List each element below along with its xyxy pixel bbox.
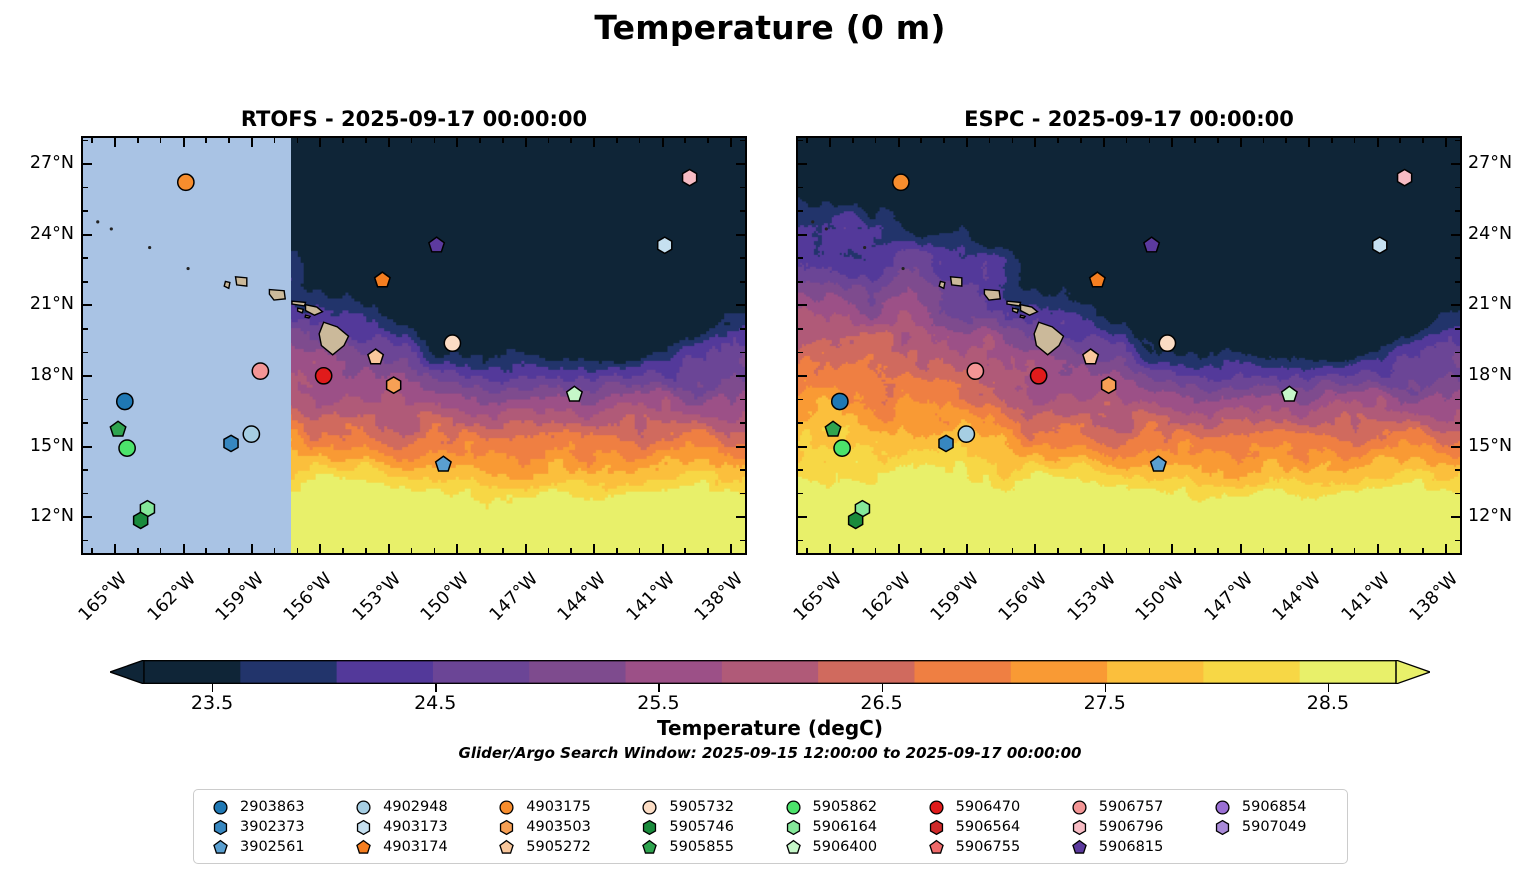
legend-label: 5905855: [669, 839, 734, 855]
legend-marker-hexagon: [1214, 819, 1231, 836]
x-tick-label: 138°W: [1384, 569, 1462, 647]
x-tick: [1103, 136, 1105, 147]
x-tick: [966, 544, 968, 555]
y-tick: [796, 281, 803, 283]
platform-marker-4902948[interactable]: [243, 426, 259, 442]
colorbar-tick-label: 24.5: [375, 692, 495, 714]
platform-marker-5905732[interactable]: [1159, 335, 1175, 351]
y-tick: [796, 328, 803, 330]
platform-marker-5905862[interactable]: [834, 440, 850, 456]
x-tick: [616, 136, 618, 143]
x-tick: [205, 136, 207, 143]
x-tick: [1331, 548, 1333, 555]
x-tick: [1171, 544, 1173, 555]
y-tick-label: 18°N: [1468, 365, 1540, 385]
colorbar-band-10: [1107, 660, 1204, 684]
y-tick-label: 18°N: [0, 365, 74, 385]
x-tick-label: 150°W: [1111, 569, 1189, 647]
platform-marker-2903863[interactable]: [832, 393, 848, 409]
y-tick: [81, 257, 88, 259]
x-tick-label: 159°W: [905, 569, 983, 647]
x-tick: [639, 136, 641, 143]
x-tick: [297, 548, 299, 555]
platform-marker-5906470[interactable]: [316, 368, 332, 384]
x-tick: [570, 548, 572, 555]
x-tick: [1399, 548, 1401, 555]
x-tick: [1399, 136, 1401, 143]
x-tick: [91, 136, 93, 143]
platform-marker-5905272[interactable]: [368, 349, 383, 364]
x-tick: [662, 544, 664, 555]
y-tick: [796, 399, 803, 401]
legend-label: 4902948: [383, 799, 448, 815]
y-tick: [81, 304, 92, 306]
legend-item-5906815[interactable]: 5906815: [1057, 837, 1200, 857]
x-tick: [875, 136, 877, 143]
legend-marker-pentagon: [212, 839, 229, 856]
platform-marker-5905746[interactable]: [134, 512, 148, 528]
legend-item-5905746[interactable]: 5905746: [627, 817, 770, 837]
x-tick: [1012, 136, 1014, 143]
platform-marker-5905746[interactable]: [849, 512, 863, 528]
x-tick: [160, 136, 162, 143]
colorbar-band-6: [722, 660, 819, 684]
legend-item-4903503[interactable]: 4903503: [484, 817, 627, 837]
platform-marker-5906470[interactable]: [1031, 368, 1047, 384]
legend-item-5906470[interactable]: 5906470: [914, 797, 1057, 817]
platform-marker-4903175[interactable]: [178, 174, 194, 190]
colorbar-band-3: [433, 660, 530, 684]
legend-marker-pentagon: [785, 839, 802, 856]
platform-marker-4903174[interactable]: [375, 272, 390, 287]
y-tick: [740, 469, 747, 471]
platform-marker-2903863[interactable]: [117, 393, 133, 409]
x-tick: [1194, 136, 1196, 143]
colorbar-band-5: [626, 660, 723, 684]
x-tick: [920, 136, 922, 143]
legend-marker-circle: [355, 799, 372, 816]
y-tick: [1455, 422, 1462, 424]
y-tick: [81, 469, 88, 471]
legend-label: 5907049: [1242, 819, 1307, 835]
legend-item-5907049[interactable]: 5907049: [1200, 817, 1343, 837]
platform-marker-3902373[interactable]: [224, 435, 238, 451]
x-tick: [1263, 136, 1265, 143]
x-tick: [662, 136, 664, 147]
x-tick: [707, 136, 709, 143]
x-tick-label: 153°W: [1042, 569, 1120, 647]
y-tick: [1455, 352, 1462, 354]
colorbar-band-11: [1203, 660, 1300, 684]
legend-label: 5906564: [956, 819, 1021, 835]
legend-item-5906796[interactable]: 5906796: [1057, 817, 1200, 837]
y-tick: [81, 352, 88, 354]
y-tick: [740, 281, 747, 283]
y-tick: [796, 516, 807, 518]
platform-marker-3902561[interactable]: [436, 456, 451, 471]
y-tick: [736, 163, 747, 165]
y-tick-label: 15°N: [0, 436, 74, 456]
platform-marker-4903173[interactable]: [1373, 237, 1387, 253]
x-tick: [593, 544, 595, 555]
x-tick: [228, 548, 230, 555]
x-tick: [479, 136, 481, 143]
y-tick: [81, 234, 92, 236]
y-tick: [81, 187, 88, 189]
x-tick: [966, 136, 968, 147]
platform-markers-espc: [798, 138, 1460, 553]
x-tick: [411, 548, 413, 555]
colorbar-tick-label: 27.5: [1045, 692, 1165, 714]
legend-label: 2903863: [240, 799, 305, 815]
y-tick: [740, 210, 747, 212]
x-tick-label: 153°W: [327, 569, 405, 647]
x-tick: [434, 548, 436, 555]
figure: Temperature (0 m) RTOFS - 2025-09-17 00:…: [0, 0, 1540, 889]
x-tick: [502, 548, 504, 555]
legend-label: 5905732: [669, 799, 734, 815]
y-tick-label: 24°N: [1468, 224, 1540, 244]
x-tick: [1445, 544, 1447, 555]
x-tick: [365, 548, 367, 555]
legend-item-5905272[interactable]: 5905272: [484, 837, 627, 857]
legend-item-5906400[interactable]: 5906400: [771, 837, 914, 857]
legend-marker-circle: [928, 799, 945, 816]
legend-item-3902373[interactable]: 3902373: [198, 817, 341, 837]
x-tick: [730, 544, 732, 555]
legend-marker-hexagon: [498, 819, 515, 836]
colorbar-tick-label: 28.5: [1268, 692, 1388, 714]
y-tick: [796, 187, 803, 189]
y-tick: [796, 352, 803, 354]
x-tick: [1377, 544, 1379, 555]
x-tick-label: 156°W: [259, 569, 337, 647]
x-tick: [639, 548, 641, 555]
x-tick: [684, 548, 686, 555]
x-tick: [989, 548, 991, 555]
platform-marker-3902373[interactable]: [939, 435, 953, 451]
legend-grid: 2903863390237339025614902948490317349031…: [198, 797, 1343, 857]
y-tick-label: 27°N: [1468, 153, 1540, 173]
x-tick: [684, 136, 686, 143]
x-tick: [1171, 136, 1173, 147]
y-tick: [740, 257, 747, 259]
x-tick: [1080, 548, 1082, 555]
x-tick: [548, 136, 550, 143]
legend-marker-circle: [785, 799, 802, 816]
x-tick: [1377, 136, 1379, 147]
y-tick-label: 27°N: [0, 153, 74, 173]
colorbar-band-8: [914, 660, 1011, 684]
platform-marker-5906815[interactable]: [429, 237, 444, 252]
y-tick: [796, 210, 803, 212]
legend-marker-pentagon: [498, 839, 515, 856]
colorbar-gradient: [110, 660, 1430, 684]
legend-item-4903173[interactable]: 4903173: [341, 817, 484, 837]
x-tick: [251, 544, 253, 555]
x-tick-label: 162°W: [837, 569, 915, 647]
platform-legend: 2903863390237339025614902948490317349031…: [193, 789, 1348, 864]
x-tick: [274, 548, 276, 555]
legend-label: 5905746: [669, 819, 734, 835]
y-tick: [81, 399, 88, 401]
x-tick: [1149, 548, 1151, 555]
x-tick: [852, 136, 854, 143]
x-tick: [989, 136, 991, 143]
platform-marker-4903175[interactable]: [893, 174, 909, 190]
legend-item-4903174[interactable]: 4903174: [341, 837, 484, 857]
y-tick: [740, 493, 747, 495]
legend-item-4902948[interactable]: 4902948: [341, 797, 484, 817]
y-tick: [1455, 257, 1462, 259]
colorbar-band-9: [1011, 660, 1108, 684]
platform-marker-4903503[interactable]: [1102, 377, 1116, 393]
x-tick-label: 162°W: [122, 569, 200, 647]
panel-title-espc: ESPC - 2025-09-17 00:00:00: [796, 106, 1462, 132]
colorbar-band-2: [337, 660, 434, 684]
y-tick: [1455, 399, 1462, 401]
platform-marker-5905272[interactable]: [1083, 349, 1098, 364]
x-tick: [1057, 136, 1059, 143]
legend-item-5906757[interactable]: 5906757: [1057, 797, 1200, 817]
x-tick: [898, 136, 900, 147]
platform-marker-5906796[interactable]: [683, 170, 697, 186]
legend-item-2903863[interactable]: 2903863: [198, 797, 341, 817]
platform-marker-5906757[interactable]: [252, 363, 268, 379]
legend-label: 5906400: [813, 839, 878, 855]
platform-marker-5906815[interactable]: [1144, 237, 1159, 252]
y-tick: [796, 422, 803, 424]
x-tick: [525, 544, 527, 555]
y-tick: [1451, 234, 1462, 236]
y-tick-label: 12°N: [0, 506, 74, 526]
x-tick: [1080, 136, 1082, 143]
platform-marker-5906796[interactable]: [1398, 170, 1412, 186]
legend-label: 5906815: [1099, 839, 1164, 855]
x-tick: [319, 136, 321, 147]
legend-label: 5906470: [956, 799, 1021, 815]
y-tick: [740, 140, 747, 142]
colorbar-band-7: [818, 660, 915, 684]
x-tick: [137, 136, 139, 143]
legend-label: 4903175: [526, 799, 591, 815]
x-tick-label: 141°W: [601, 569, 679, 647]
x-tick: [1422, 136, 1424, 143]
y-tick: [796, 446, 807, 448]
x-tick: [228, 136, 230, 143]
y-tick: [740, 187, 747, 189]
x-tick: [1034, 544, 1036, 555]
y-tick: [81, 140, 88, 142]
y-tick: [796, 234, 807, 236]
legend-label: 5905862: [813, 799, 878, 815]
x-tick: [205, 548, 207, 555]
legend-label: 3902561: [240, 839, 305, 855]
legend-marker-circle: [641, 799, 658, 816]
x-tick: [1263, 548, 1265, 555]
x-tick: [1354, 136, 1356, 143]
x-tick: [1422, 548, 1424, 555]
legend-item-5906164[interactable]: 5906164: [771, 817, 914, 837]
y-tick: [1455, 469, 1462, 471]
platform-marker-5906400[interactable]: [1282, 386, 1297, 401]
colorbar-tick: [1105, 684, 1106, 692]
y-tick: [796, 140, 803, 142]
platform-marker-4903503[interactable]: [387, 377, 401, 393]
y-tick: [81, 540, 88, 542]
platform-marker-4903174[interactable]: [1090, 272, 1105, 287]
legend-label: 5905272: [526, 839, 591, 855]
platform-marker-5906757[interactable]: [967, 363, 983, 379]
legend-marker-pentagon: [641, 839, 658, 856]
legend-item-5905855[interactable]: 5905855: [627, 837, 770, 857]
x-tick: [920, 548, 922, 555]
colorbar-tick: [435, 684, 436, 692]
x-tick: [593, 136, 595, 147]
legend-item-3902561[interactable]: 3902561: [198, 837, 341, 857]
y-tick: [736, 234, 747, 236]
x-tick: [1308, 136, 1310, 147]
x-tick-label: 147°W: [1179, 569, 1257, 647]
y-tick: [1455, 328, 1462, 330]
x-tick-label: 165°W: [769, 569, 847, 647]
legend-marker-circle: [498, 799, 515, 816]
x-tick: [183, 136, 185, 147]
page-title: Temperature (0 m): [0, 8, 1540, 47]
y-tick: [81, 163, 92, 165]
y-tick-label: 21°N: [0, 294, 74, 314]
y-tick-label: 12°N: [1468, 506, 1540, 526]
legend-item-5905862[interactable]: 5905862: [771, 797, 914, 817]
legend-item-5905732[interactable]: 5905732: [627, 797, 770, 817]
colorbar-extend-high: [1396, 660, 1430, 684]
x-tick-label: 156°W: [974, 569, 1052, 647]
y-tick: [796, 469, 803, 471]
x-tick: [274, 136, 276, 143]
x-tick-label: 147°W: [464, 569, 542, 647]
y-tick: [81, 210, 88, 212]
platform-markers-rtofs: [83, 138, 745, 553]
x-tick: [183, 544, 185, 555]
x-tick: [502, 136, 504, 143]
y-tick: [81, 375, 92, 377]
legend-item-5906755[interactable]: 5906755: [914, 837, 1057, 857]
platform-marker-5905732[interactable]: [444, 335, 460, 351]
platform-marker-5905855[interactable]: [825, 421, 840, 436]
legend-marker-pentagon: [355, 839, 372, 856]
legend-label: 4903174: [383, 839, 448, 855]
legend-marker-circle: [1214, 799, 1231, 816]
colorbar-label: Temperature (degC): [0, 716, 1540, 740]
x-tick: [1331, 136, 1333, 143]
y-tick: [1451, 163, 1462, 165]
colorbar-band-0: [144, 660, 241, 684]
y-tick-label: 24°N: [0, 224, 74, 244]
x-tick: [1240, 544, 1242, 555]
y-tick: [736, 304, 747, 306]
y-tick: [796, 304, 807, 306]
y-tick: [81, 328, 88, 330]
y-tick: [1455, 540, 1462, 542]
legend-item-4903175[interactable]: 4903175: [484, 797, 627, 817]
x-tick: [388, 136, 390, 147]
x-tick: [342, 548, 344, 555]
map-panel-rtofs[interactable]: [81, 136, 747, 555]
legend-marker-hexagon: [785, 819, 802, 836]
x-tick: [1034, 136, 1036, 147]
colorbar-extend-low: [110, 660, 144, 684]
map-panel-espc[interactable]: [796, 136, 1462, 555]
y-tick: [740, 540, 747, 542]
x-tick: [852, 548, 854, 555]
x-tick: [297, 136, 299, 143]
legend-marker-hexagon: [928, 819, 945, 836]
y-tick: [81, 493, 88, 495]
legend-item-5906564[interactable]: 5906564: [914, 817, 1057, 837]
x-tick: [319, 544, 321, 555]
y-tick: [1455, 140, 1462, 142]
legend-label: 5906854: [1242, 799, 1307, 815]
panel-title-rtofs: RTOFS - 2025-09-17 00:00:00: [81, 106, 747, 132]
colorbar-tick: [1328, 684, 1329, 692]
y-tick: [796, 163, 807, 165]
platform-marker-4902948[interactable]: [958, 426, 974, 442]
legend-marker-hexagon: [1071, 819, 1088, 836]
x-tick: [479, 548, 481, 555]
y-tick: [1455, 210, 1462, 212]
x-tick: [456, 136, 458, 147]
x-tick-label: 150°W: [396, 569, 474, 647]
x-tick: [806, 136, 808, 143]
x-tick: [1126, 136, 1128, 143]
colorbar-tick: [882, 684, 883, 692]
y-tick: [81, 422, 88, 424]
x-tick: [1354, 548, 1356, 555]
y-tick: [740, 422, 747, 424]
platform-marker-5906400[interactable]: [567, 386, 582, 401]
platform-marker-3902561[interactable]: [1151, 456, 1166, 471]
colorbar-band-4: [529, 660, 626, 684]
y-tick: [736, 516, 747, 518]
x-tick: [1149, 136, 1151, 143]
colorbar-band-1: [240, 660, 337, 684]
x-tick: [730, 136, 732, 147]
y-tick: [81, 516, 92, 518]
platform-marker-5905855[interactable]: [110, 421, 125, 436]
legend-label: 4903503: [526, 819, 591, 835]
colorbar-tick: [658, 684, 659, 692]
x-tick: [388, 544, 390, 555]
x-tick: [342, 136, 344, 143]
legend-marker-circle: [212, 799, 229, 816]
x-tick: [875, 548, 877, 555]
y-tick: [1455, 187, 1462, 189]
platform-marker-4903173[interactable]: [658, 237, 672, 253]
y-tick: [1451, 446, 1462, 448]
colorbar-tick-label: 23.5: [152, 692, 272, 714]
x-tick-label: 138°W: [669, 569, 747, 647]
x-tick: [1194, 548, 1196, 555]
x-tick: [943, 136, 945, 143]
y-tick: [736, 375, 747, 377]
legend-label: 5906796: [1099, 819, 1164, 835]
y-tick: [796, 375, 807, 377]
x-tick: [548, 548, 550, 555]
x-tick: [1285, 136, 1287, 143]
y-tick: [1451, 304, 1462, 306]
legend-item-5906854[interactable]: 5906854: [1200, 797, 1343, 817]
platform-marker-5905862[interactable]: [119, 440, 135, 456]
